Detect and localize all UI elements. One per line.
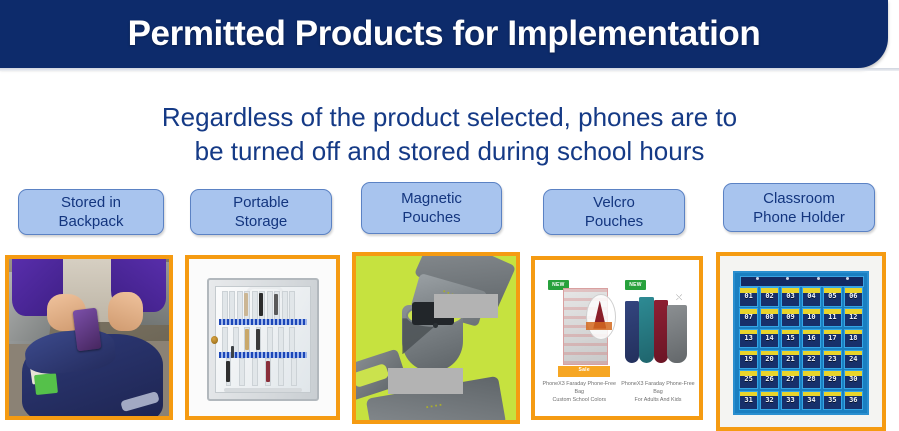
eyelet: [786, 277, 789, 280]
phone-slot: [289, 291, 295, 320]
phone-slot: [278, 327, 284, 354]
phone-pocket[interactable]: 08: [760, 308, 779, 327]
phone-pocket[interactable]: 05: [823, 287, 842, 306]
pocket-number: 10: [807, 314, 815, 321]
magnetic-pouch-photo: ▪▪▪▪▪ ▪▪▪▪▪ ▪▪▪▪: [356, 256, 516, 420]
phone-pocket[interactable]: 02: [760, 287, 779, 306]
pocket-number: 01: [744, 293, 752, 300]
pocket-number: 17: [828, 335, 836, 342]
phone-slot: [229, 291, 235, 320]
phone-slot: [278, 358, 284, 385]
phone-pocket[interactable]: 26: [760, 370, 779, 389]
phone-pocket[interactable]: 24: [844, 350, 863, 369]
phone-pocket[interactable]: 07: [739, 308, 758, 327]
product-caption[interactable]: PhoneX3 Faraday Phone-Free Bag For Adult…: [620, 380, 695, 404]
product-photo-adults-kids[interactable]: [624, 297, 690, 363]
phone-pocket[interactable]: 16: [802, 329, 821, 348]
phone-pocket[interactable]: 18: [844, 329, 863, 348]
pocket-number: 30: [849, 376, 857, 383]
phone-pocket[interactable]: 15: [781, 329, 800, 348]
bag-teal: [639, 297, 653, 363]
phone-pocket[interactable]: 29: [823, 370, 842, 389]
phone-pocket[interactable]: 10: [802, 308, 821, 327]
phone-pocket[interactable]: 20: [760, 350, 779, 369]
chip-label-line-1: Classroom: [753, 189, 845, 208]
eyelet: [817, 277, 820, 280]
chip-label-line-2: Storage: [233, 212, 289, 231]
pocket-number: 06: [849, 293, 857, 300]
chip-label-line-2: Phone Holder: [753, 208, 845, 227]
velcro-listing-screenshot: NEW ⤬ ⌕ ♡ Sale PhoneX3 Faraday Phone-Fre…: [535, 260, 699, 416]
phone-pocket[interactable]: 23: [823, 350, 842, 369]
cabinet-glass-door: [215, 286, 311, 393]
pocket-number: 08: [765, 314, 773, 321]
product-image-backpack: [5, 255, 173, 420]
stored-phone: [245, 329, 249, 350]
phone-pocket[interactable]: 17: [823, 329, 842, 348]
phone-pocket[interactable]: 04: [802, 287, 821, 306]
phone-pocket[interactable]: 33: [781, 391, 800, 410]
chip-label-line-1: Portable: [233, 193, 289, 212]
pocket-number: 23: [828, 356, 836, 363]
bag-maroon: [654, 300, 668, 363]
pocket-number: 02: [765, 293, 773, 300]
product-image-magnetic-pouches: ▪▪▪▪▪ ▪▪▪▪▪ ▪▪▪▪: [352, 252, 520, 424]
phone-pocket[interactable]: 03: [781, 287, 800, 306]
backpack-photo: [9, 259, 169, 416]
pocket-number: 11: [828, 314, 836, 321]
category-chip-magnetic-pouches[interactable]: Magnetic Pouches: [361, 182, 502, 234]
pocket-number: 22: [807, 356, 815, 363]
hand-right: [108, 292, 143, 331]
phone-slot: [252, 358, 258, 385]
phone-pocket[interactable]: 14: [760, 329, 779, 348]
phone-slot: [252, 291, 258, 320]
pocket-number: 13: [744, 335, 752, 342]
hanging-rail: [740, 276, 864, 286]
pocket-number: 20: [765, 356, 773, 363]
cabinet-base: [224, 388, 302, 392]
bag-navy: [625, 301, 639, 363]
phone-pocket[interactable]: 28: [802, 370, 821, 389]
magnet-dot: [433, 323, 438, 328]
chip-label-line-1: Stored in: [58, 193, 123, 212]
caption-line-2: Custom School Colors: [542, 396, 617, 404]
pocket-number: 34: [807, 397, 815, 404]
pocket-number: 14: [765, 335, 773, 342]
product-caption[interactable]: PhoneX3 Faraday Phone-Free Bag Custom Sc…: [542, 380, 617, 404]
phone-slot: [282, 291, 288, 320]
phone-pocket[interactable]: 35: [823, 391, 842, 410]
bag-grey: [667, 305, 687, 363]
phone-pocket[interactable]: 22: [802, 350, 821, 369]
phone-pocket[interactable]: 09: [781, 308, 800, 327]
pocket-grid: 0102030405060708091011121314151617181920…: [739, 287, 863, 410]
cabinet-key: [231, 346, 234, 359]
subtitle: Regardless of the product selected, phon…: [0, 100, 899, 168]
header-banner: Permitted Products for Implementation: [0, 0, 888, 68]
phone-slot: [267, 327, 273, 354]
phone-pocket[interactable]: 34: [802, 391, 821, 410]
chip-label-line-2: Backpack: [58, 212, 123, 231]
phone-pocket[interactable]: 12: [844, 308, 863, 327]
phone-pocket[interactable]: 30: [844, 370, 863, 389]
phone-pocket[interactable]: 13: [739, 329, 758, 348]
pocket-number: 36: [849, 397, 857, 404]
stored-phone: [256, 329, 260, 350]
stored-phone: [266, 361, 270, 382]
category-chip-velcro-pouches[interactable]: Velcro Pouches: [543, 189, 685, 235]
chip-label-line-2: Pouches: [401, 208, 462, 227]
pocket-number: 29: [828, 376, 836, 383]
phone-pocket[interactable]: 31: [739, 391, 758, 410]
caption-line-1: PhoneX3 Faraday Phone-Free Bag: [620, 380, 695, 396]
pocket-number: 21: [786, 356, 794, 363]
phone-pocket[interactable]: 11: [823, 308, 842, 327]
category-chip-stored-in-backpack[interactable]: Stored in Backpack: [18, 189, 164, 235]
redaction-box: [434, 294, 498, 319]
stored-phone: [226, 361, 230, 382]
product-image-classroom-phone-holder: 0102030405060708091011121314151617181920…: [716, 252, 886, 431]
shelf-label-strip: [219, 319, 307, 325]
header-divider: [0, 68, 899, 71]
redaction-box: [388, 368, 463, 394]
phone-slot: [237, 291, 243, 320]
category-chip-portable-storage[interactable]: Portable Storage: [190, 189, 332, 235]
pocket-number: 32: [765, 397, 773, 404]
chip-label-line-1: Velcro: [585, 193, 643, 212]
eyelet: [756, 277, 759, 280]
pocket-number: 15: [786, 335, 794, 342]
sale-banner-label: Sale: [558, 367, 610, 373]
product-image-portable-storage: [185, 255, 340, 420]
logo-ribbon: [586, 322, 612, 330]
pocket-number: 12: [849, 314, 857, 321]
cabinet-body: [207, 278, 320, 401]
pocket-number: 05: [828, 293, 836, 300]
phone-slot: [222, 327, 228, 354]
pocket-number: 18: [849, 335, 857, 342]
pocket-chart-panel: 0102030405060708091011121314151617181920…: [733, 271, 869, 415]
phone-pocket[interactable]: 06: [844, 287, 863, 306]
phone-being-stored: [72, 308, 101, 351]
phone-slot: [291, 358, 297, 385]
phone-pocket[interactable]: 25: [739, 370, 758, 389]
phone-slot: [239, 358, 245, 385]
pocket-number: 19: [744, 356, 752, 363]
pocket-number: 09: [786, 314, 794, 321]
phone-pocket[interactable]: 27: [781, 370, 800, 389]
subtitle-line-1: Regardless of the product selected, phon…: [0, 100, 899, 134]
storage-cabinet-photo: [189, 259, 336, 416]
phone-pocket[interactable]: 19: [739, 350, 758, 369]
classroom-holder-photo: 0102030405060708091011121314151617181920…: [720, 256, 882, 427]
new-badge: NEW: [625, 280, 646, 290]
pocket-number: 03: [786, 293, 794, 300]
stored-phone: [274, 294, 278, 315]
chip-label-line-2: Pouches: [585, 212, 643, 231]
pocket-number: 35: [828, 397, 836, 404]
eyelet: [846, 277, 849, 280]
phone-slot: [222, 291, 228, 320]
phone-pocket[interactable]: 32: [760, 391, 779, 410]
pocket-number: 24: [849, 356, 857, 363]
pocket-number: 31: [744, 397, 752, 404]
product-image-velcro-pouches: NEW ⤬ ⌕ ♡ Sale PhoneX3 Faraday Phone-Fre…: [531, 256, 703, 420]
subtitle-line-2: be turned off and stored during school h…: [0, 134, 899, 168]
chip-label-line-1: Magnetic: [401, 189, 462, 208]
pocket-number: 27: [786, 376, 794, 383]
slide-root: Permitted Products for Implementation Re…: [0, 0, 899, 431]
phone-slot: [267, 291, 273, 320]
notebook-green: [34, 372, 58, 395]
category-chip-classroom-phone-holder[interactable]: Classroom Phone Holder: [723, 183, 875, 232]
phone-pocket[interactable]: 36: [844, 391, 863, 410]
pocket-number: 26: [765, 376, 773, 383]
stored-phone: [244, 293, 248, 316]
phone-pocket[interactable]: 21: [781, 350, 800, 369]
pocket-number: 07: [744, 314, 752, 321]
page-title: Permitted Products for Implementation: [0, 14, 888, 54]
caption-line-1: PhoneX3 Faraday Phone-Free Bag: [542, 380, 617, 396]
phone-pocket[interactable]: 01: [739, 287, 758, 306]
caption-line-2: For Adults And Kids: [620, 396, 695, 404]
pocket-number: 25: [744, 376, 752, 383]
stored-phone: [259, 293, 263, 316]
pocket-number: 04: [807, 293, 815, 300]
pocket-number: 28: [807, 376, 815, 383]
pocket-number: 33: [786, 397, 794, 404]
phone-slot: [289, 327, 295, 354]
pocket-number: 16: [807, 335, 815, 342]
